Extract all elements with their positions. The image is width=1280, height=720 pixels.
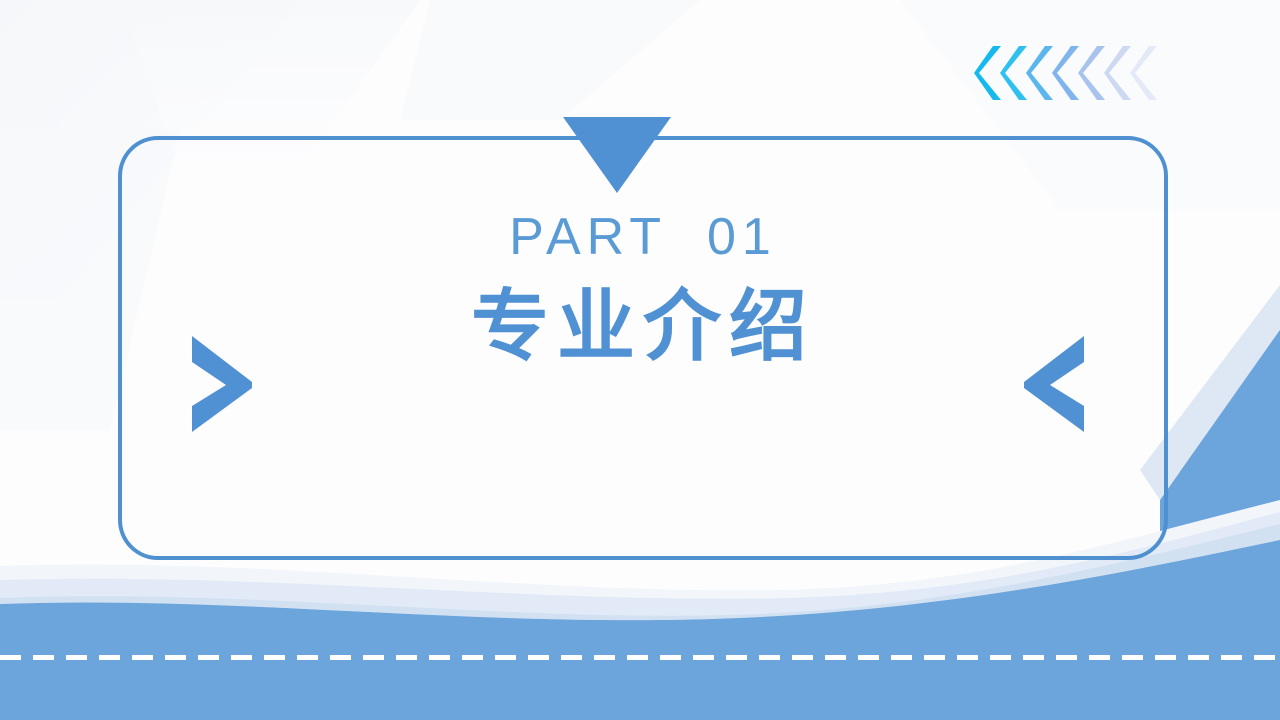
slide-canvas: PART 01 专业介绍: [0, 0, 1280, 720]
triangle-down-icon: [563, 117, 671, 193]
chevron-left-icon[interactable]: [1018, 336, 1090, 432]
chevron-right-icon[interactable]: [186, 336, 258, 432]
content-card: [118, 136, 1168, 560]
chevron-strip-decoration: [972, 44, 1162, 102]
dashed-divider: [0, 655, 1280, 660]
chevron-left-icon-7: [1128, 44, 1158, 102]
